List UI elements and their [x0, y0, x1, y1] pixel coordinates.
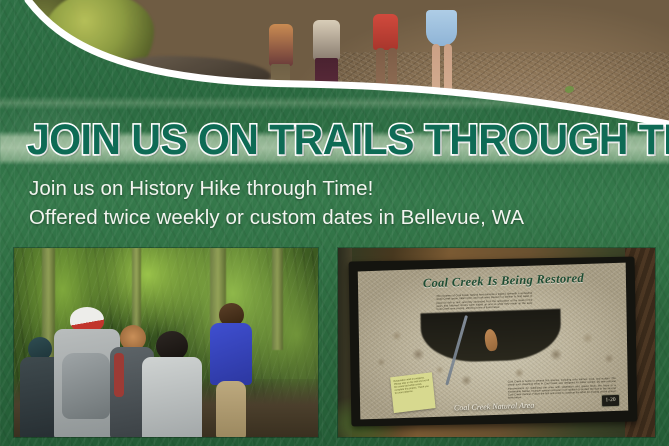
- hiker-torso: [269, 24, 293, 66]
- sign-badge: 1-20: [601, 394, 620, 408]
- photo-forest-hike-group: [14, 248, 318, 437]
- moss-rock-icon: [42, 0, 154, 82]
- sign-paragraph-top: The pioneers of Coal Creek Natural Area …: [436, 292, 532, 312]
- hiker-torso: [373, 14, 398, 50]
- sign-paragraph-bottom: Coal Creek is home to several fish speci…: [508, 377, 616, 400]
- hiker-figure: [142, 331, 202, 437]
- hero-photo-clip: [0, 0, 669, 132]
- poster-canvas: JOIN US ON TRAILS THROUGH TIME! Join us …: [0, 0, 669, 446]
- hiker-legs: [388, 48, 397, 124]
- hiker-legs: [315, 58, 338, 125]
- hero-photo: [0, 0, 669, 132]
- hiker-body: [142, 357, 202, 437]
- page-title: JOIN US ON TRAILS THROUGH TIME!: [27, 118, 669, 162]
- backpack: [62, 353, 110, 419]
- hero-photo-image: [0, 0, 669, 132]
- hiker-torso: [426, 10, 457, 46]
- hiker-torso: [313, 20, 340, 60]
- sign-notice-text: Restoration work in progress. Please sta…: [393, 376, 430, 396]
- hiker-figure: [370, 14, 402, 132]
- tree-trunk: [272, 248, 283, 350]
- subtitle-line-2: Offered twice weekly or custom dates in …: [29, 206, 524, 230]
- subtitle-line-1: Join us on History Hike through Time!: [29, 177, 373, 201]
- hiker-figure: [424, 10, 460, 132]
- sign-panel: Coal Creek Is Being Restored The pioneer…: [358, 263, 628, 420]
- hiker-legs: [432, 44, 440, 124]
- sign-frame: Coal Creek Is Being Restored The pioneer…: [349, 257, 638, 427]
- hiker-legs: [376, 48, 385, 124]
- guide-pants: [216, 381, 246, 437]
- rock-ledge: [96, 56, 271, 90]
- guide-jacket: [210, 323, 252, 385]
- backpack-strap: [114, 353, 124, 397]
- hiker-legs: [444, 44, 452, 124]
- guide-figure: [210, 303, 252, 437]
- photo-interpretive-sign: Coal Creek Is Being Restored The pioneer…: [338, 248, 655, 437]
